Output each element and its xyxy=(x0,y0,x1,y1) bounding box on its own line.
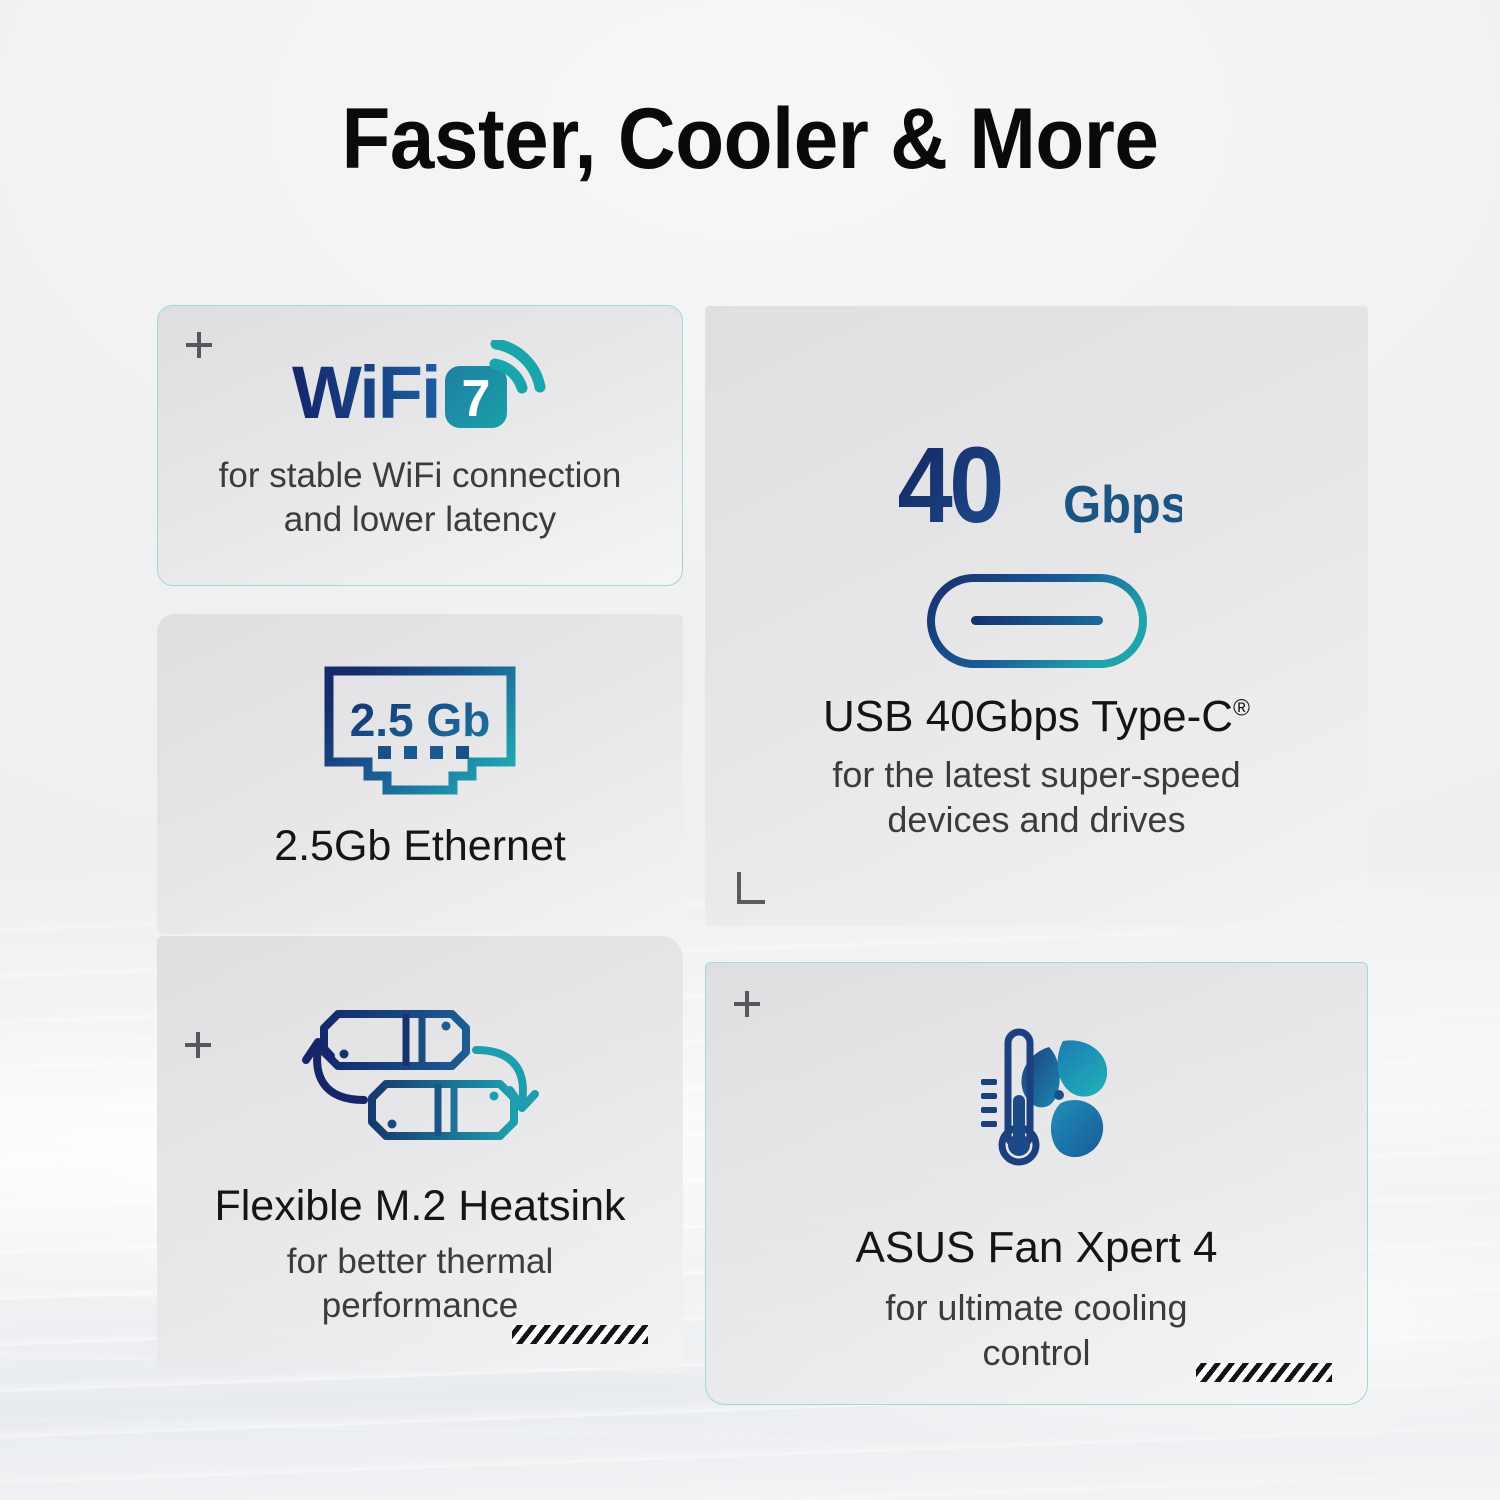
hatch-bar-decoration xyxy=(512,1325,648,1344)
m2-description-line-1: for better thermal xyxy=(157,1240,683,1284)
wifi7-description: for stable WiFi connection and lower lat… xyxy=(158,454,682,542)
svg-text:2.5 Gb: 2.5 Gb xyxy=(350,694,491,746)
usb-40gbps-badge: 40 Gbps xyxy=(705,430,1368,542)
usb40-heading: USB 40Gbps Type-C® xyxy=(705,692,1368,743)
feature-card-ethernet[interactable]: 2.5 Gb 2.5Gb Ethernet xyxy=(157,614,683,934)
registered-trademark-icon: ® xyxy=(1233,694,1250,720)
svg-text:40: 40 xyxy=(897,430,1000,542)
feature-card-usb40[interactable]: 40 Gbps xyxy=(705,306,1368,926)
page-title: Faster, Cooler & More xyxy=(53,96,1448,182)
usb40-description: for the latest super-speed devices and d… xyxy=(705,752,1368,843)
wifi-7-logo: WiFi 7 xyxy=(158,340,682,440)
thermometer-fan-icon xyxy=(706,1017,1367,1199)
ethernet-port-icon: 2.5 Gb xyxy=(157,664,683,806)
wifi7-description-line-1: for stable WiFi connection xyxy=(158,454,682,498)
svg-text:Gbps: Gbps xyxy=(1063,475,1182,534)
wifi7-description-line-2: and lower latency xyxy=(158,498,682,542)
plus-marker-icon xyxy=(734,991,760,1017)
feature-card-wifi7[interactable]: WiFi 7 for stable WiFi connection and lo… xyxy=(157,305,683,586)
usb40-heading-text: USB 40Gbps Type-C xyxy=(823,692,1233,741)
fan-xpert-description-line-1: for ultimate cooling xyxy=(706,1285,1367,1330)
usb40-description-line-2: devices and drives xyxy=(705,797,1368,842)
m2-description: for better thermal performance xyxy=(157,1240,683,1328)
marketing-feature-panel: Faster, Cooler & More WiFi 7 xyxy=(0,0,1500,1500)
m2-description-line-2: performance xyxy=(157,1284,683,1328)
feature-card-m2-heatsink[interactable]: Flexible M.2 Heatsink for better thermal… xyxy=(157,936,683,1368)
feature-card-fan-xpert[interactable]: ASUS Fan Xpert 4 for ultimate cooling co… xyxy=(705,962,1368,1405)
svg-text:WiFi: WiFi xyxy=(292,351,440,434)
corner-bracket-icon xyxy=(737,872,765,904)
ethernet-heading: 2.5Gb Ethernet xyxy=(157,822,683,871)
usb-c-port-icon xyxy=(705,570,1368,672)
fan-xpert-heading: ASUS Fan Xpert 4 xyxy=(706,1223,1367,1274)
hatch-bar-decoration xyxy=(1196,1363,1332,1382)
svg-text:7: 7 xyxy=(462,370,491,428)
m2-heatsink-swap-icon xyxy=(157,998,683,1148)
usb40-description-line-1: for the latest super-speed xyxy=(705,752,1368,797)
m2-heading: Flexible M.2 Heatsink xyxy=(157,1182,683,1231)
